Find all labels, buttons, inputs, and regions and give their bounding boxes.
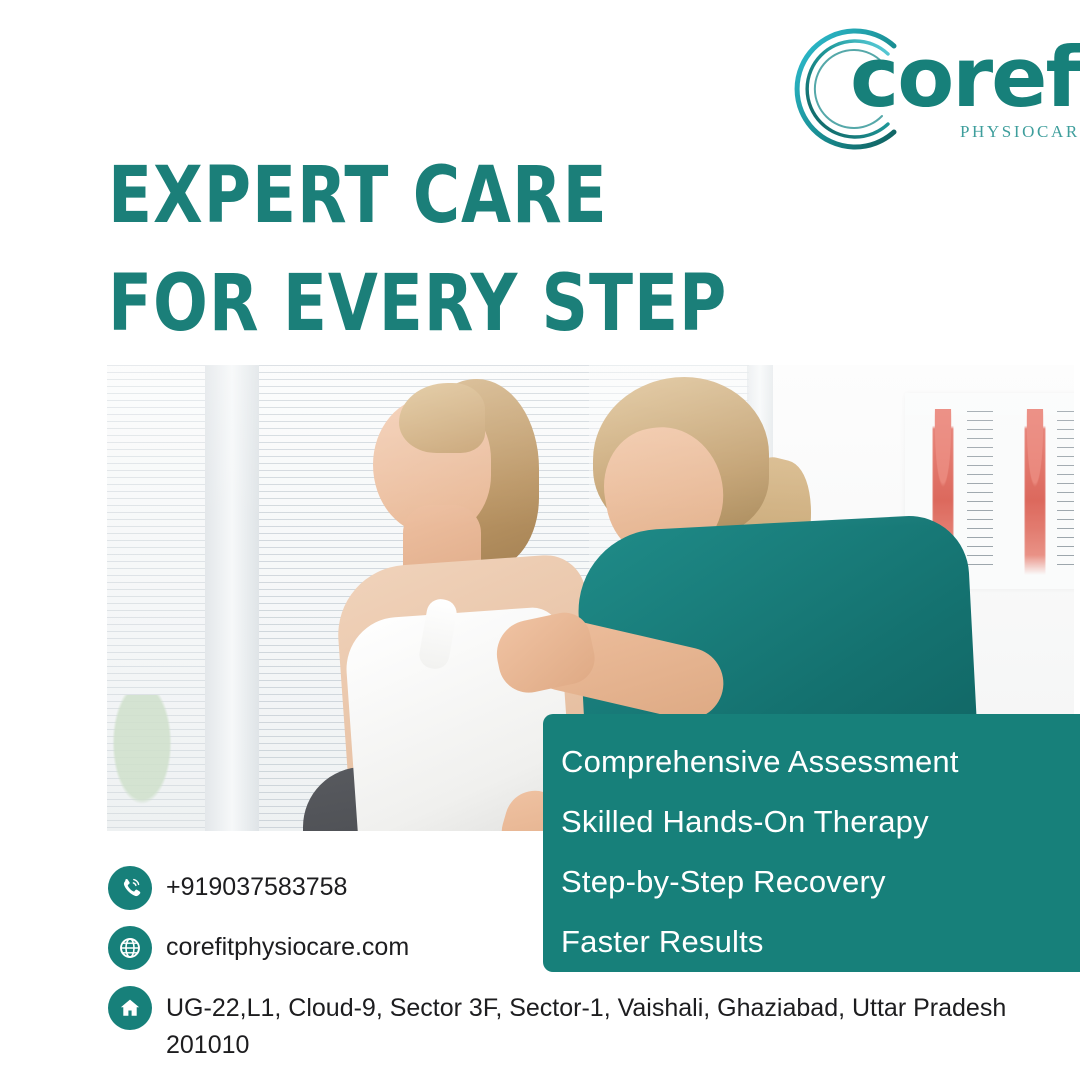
phone-number: +919037583758 bbox=[166, 866, 347, 905]
contact-row-website[interactable]: corefitphysiocare.com bbox=[108, 926, 1068, 970]
promo-poster: corefit PHYSIOCARE EXPERT CARE FOR EVERY… bbox=[0, 0, 1080, 1080]
page-title: EXPERT CARE FOR EVERY STEP bbox=[108, 142, 968, 358]
window-frame-left bbox=[205, 365, 259, 831]
feature-item: Skilled Hands-On Therapy bbox=[561, 792, 1080, 852]
headline-line-2: FOR EVERY STEP bbox=[108, 250, 899, 358]
phone-call-icon bbox=[108, 866, 152, 910]
headline-line-1: EXPERT CARE bbox=[108, 142, 899, 250]
clinic-plant bbox=[107, 695, 177, 815]
anatomy-figure-back bbox=[1015, 409, 1055, 575]
anatomy-labels-right bbox=[1057, 411, 1074, 573]
home-icon bbox=[108, 986, 152, 1030]
brand-logo: corefit PHYSIOCARE bbox=[782, 18, 1074, 150]
brand-name: corefit bbox=[850, 36, 1080, 120]
feature-item: Comprehensive Assessment bbox=[561, 732, 1080, 792]
globe-icon bbox=[108, 926, 152, 970]
address-text: UG-22,L1, Cloud-9, Sector 3F, Sector-1, … bbox=[166, 986, 1066, 1064]
anatomy-labels-left bbox=[967, 411, 993, 573]
brand-tagline: PHYSIOCARE bbox=[960, 122, 1080, 142]
contact-block: +919037583758 corefitphysiocare.com bbox=[108, 866, 1068, 1064]
contact-row-phone[interactable]: +919037583758 bbox=[108, 866, 1068, 910]
website-url: corefitphysiocare.com bbox=[166, 926, 409, 965]
contact-row-address[interactable]: UG-22,L1, Cloud-9, Sector 3F, Sector-1, … bbox=[108, 986, 1068, 1064]
